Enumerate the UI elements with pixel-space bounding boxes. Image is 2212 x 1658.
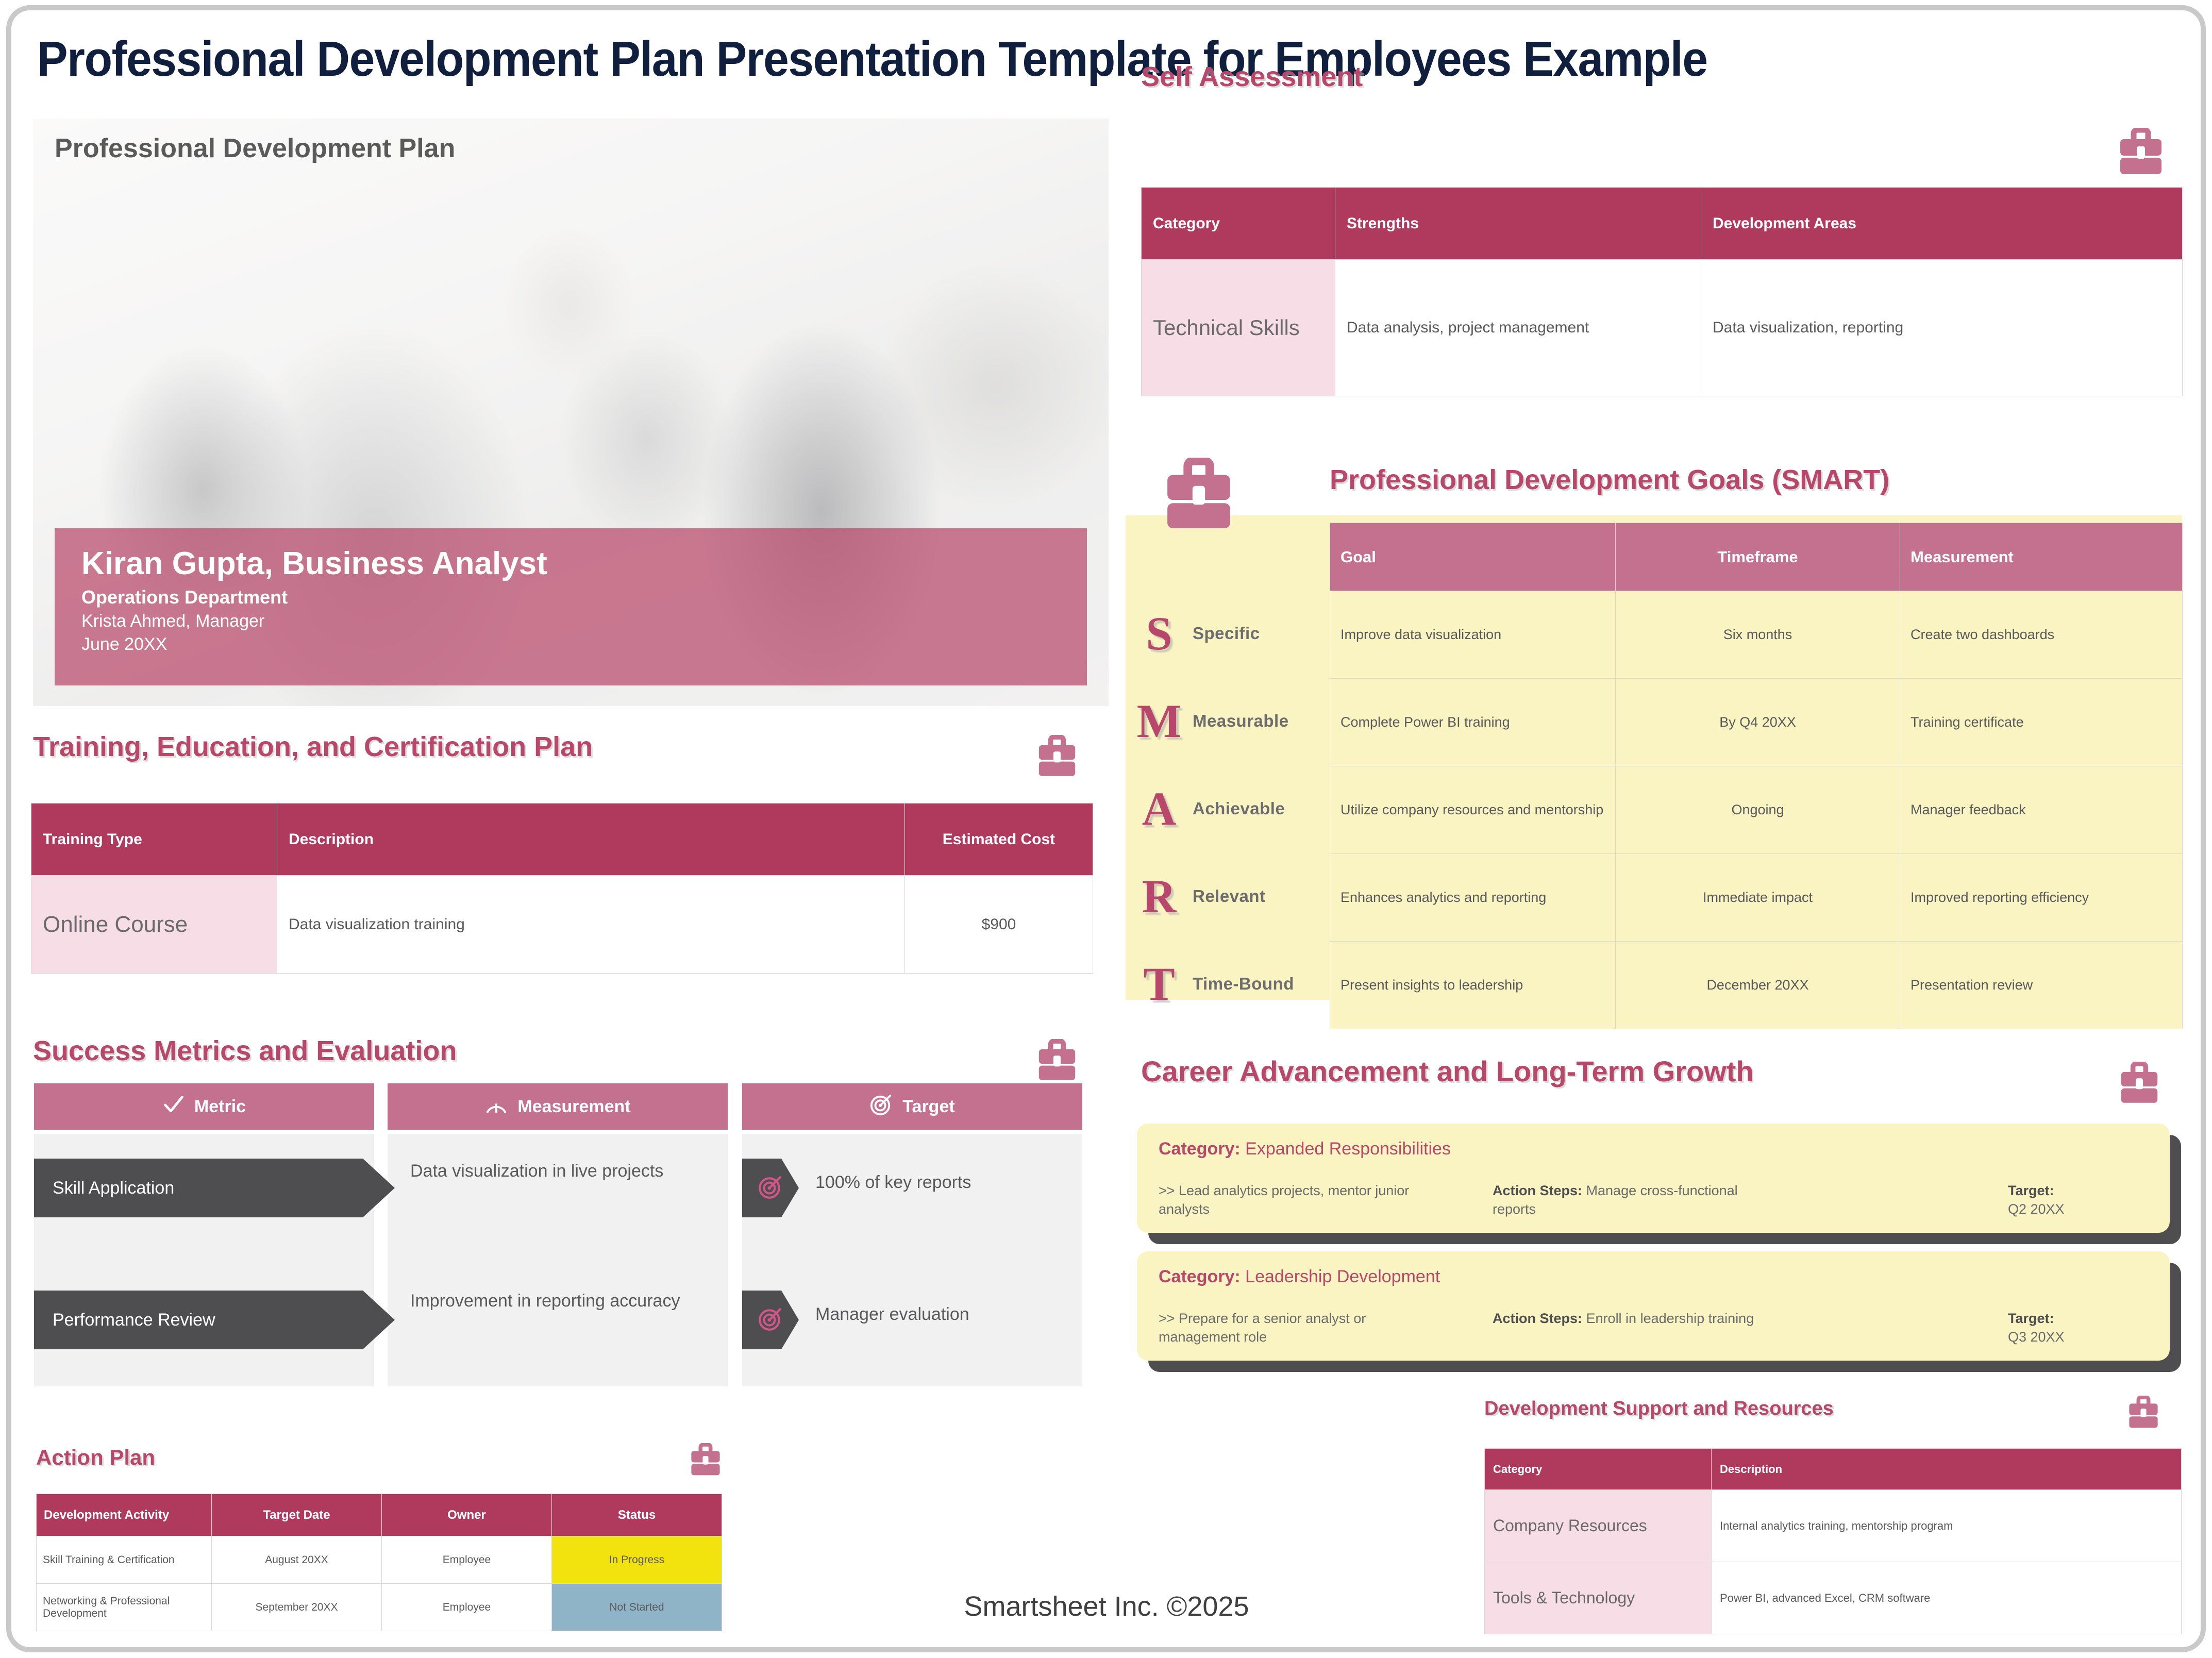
cell-description: Internal analytics training, mentorship … [1712, 1490, 2182, 1562]
table-row: Present insights to leadership December … [1330, 942, 2183, 1029]
column-header-target-date: Target Date [212, 1494, 382, 1536]
metrics-header-label: Measurement [517, 1097, 630, 1117]
cell-measurement: Presentation review [1900, 942, 2183, 1029]
career-card-category-1: Category: Expanded Responsibilities [1159, 1139, 1451, 1159]
table-row: Enhances analytics and reporting Immedia… [1330, 854, 2183, 942]
cell-training-type: Online Course [31, 876, 277, 974]
column-header-status: Status [552, 1494, 722, 1536]
smart-goals-title: Professional Development Goals (SMART) [1330, 464, 1889, 496]
cell-owner: Employee [382, 1536, 552, 1584]
briefcase-icon [2129, 1396, 2158, 1429]
career-card-1: Category: Expanded Responsibilities >> L… [1137, 1124, 2170, 1233]
briefcase-icon [1166, 458, 1232, 530]
metrics-header-metric[interactable]: Metric [34, 1083, 374, 1130]
career-card-detail-1: >> Lead analytics projects, mentor junio… [1159, 1181, 1447, 1219]
career-card-target-value: Q2 20XX [2008, 1201, 2065, 1217]
cell-estimated-cost: $900 [905, 876, 1093, 974]
hero-name: Kiran Gupta, Business Analyst [81, 547, 1087, 581]
dev-support-title: Development Support and Resources [1484, 1398, 1834, 1420]
success-metrics-header-row: Metric Measurement [11, 1083, 1094, 1130]
career-growth-title: Career Advancement and Long-Term Growth [1141, 1054, 1754, 1088]
target-text-row2: Manager evaluation [815, 1303, 1073, 1326]
smart-label: Relevant [1193, 886, 1266, 906]
target-icon [758, 1306, 783, 1334]
smart-letter: A [1126, 785, 1193, 832]
metric-label: Performance Review [53, 1310, 215, 1330]
cell-goal: Present insights to leadership [1330, 942, 1616, 1029]
hero-banner: Professional Development Plan Kiran Gupt… [33, 119, 1109, 706]
target-icon [869, 1093, 893, 1121]
smart-row-measurable: M Measurable [1126, 677, 1315, 765]
metrics-header-target[interactable]: Target [742, 1083, 1082, 1130]
slide-content: Professional Development Plan Presentati… [11, 9, 2202, 1649]
career-card-category-label: Category: [1159, 1267, 1241, 1286]
cell-timeframe: Immediate impact [1616, 854, 1900, 942]
career-card-category-label: Category: [1159, 1139, 1241, 1159]
briefcase-icon [691, 1443, 720, 1476]
table-row: Improve data visualization Six months Cr… [1330, 591, 2183, 679]
column-header-development-areas: Development Areas [1701, 188, 2183, 260]
cell-category: Technical Skills [1142, 260, 1335, 396]
status-badge: In Progress [552, 1536, 722, 1584]
cell-activity: Skill Training & Certification [37, 1536, 212, 1584]
career-card-action-value: Enroll in leadership training [1586, 1311, 1754, 1326]
career-card-detail-2: >> Prepare for a senior analyst or manag… [1159, 1309, 1447, 1347]
footer-watermark: Smartsheet Inc. ©2025 [11, 1590, 2202, 1622]
training-plan-title: Training, Education, and Certification P… [33, 731, 593, 763]
column-header-timeframe: Timeframe [1616, 523, 1900, 591]
metrics-header-measurement[interactable]: Measurement [388, 1083, 728, 1130]
metric-arrow-row1: Skill Application [34, 1159, 395, 1217]
career-card-action-2: Action Steps: Enroll in leadership train… [1493, 1309, 1781, 1328]
column-header-strengths: Strengths [1335, 188, 1701, 260]
cell-timeframe: Ongoing [1616, 766, 1900, 854]
table-row: Utilize company resources and mentorship… [1330, 766, 2183, 854]
check-icon [162, 1093, 185, 1120]
hero-department: Operations Department [81, 587, 1087, 608]
cell-goal: Enhances analytics and reporting [1330, 854, 1616, 942]
career-card-category-value: Expanded Responsibilities [1245, 1139, 1451, 1159]
briefcase-icon [1038, 1039, 1076, 1081]
hero-kicker: Professional Development Plan [55, 133, 455, 164]
career-card-category-2: Category: Leadership Development [1159, 1267, 1440, 1287]
column-header-training-type: Training Type [31, 803, 277, 876]
career-card-target-2: Target: Q3 20XX [2008, 1309, 2152, 1347]
smart-goals-table: Goal Timeframe Measurement Improve data … [1330, 523, 2183, 1029]
table-header-row: Training Type Description Estimated Cost [31, 803, 1093, 876]
gauge-icon [484, 1093, 508, 1120]
cell-timeframe: By Q4 20XX [1616, 679, 1900, 766]
career-card-action-label: Action Steps: [1493, 1311, 1582, 1326]
table-row: Company Resources Internal analytics tra… [1485, 1490, 2182, 1562]
cell-strengths: Data analysis, project management [1335, 260, 1701, 396]
metric-arrow-row2: Performance Review [34, 1291, 395, 1349]
smart-row-time-bound: T Time-Bound [1126, 940, 1315, 1028]
target-text-row1: 100% of key reports [815, 1171, 1073, 1194]
smart-label: Achievable [1193, 799, 1285, 818]
column-header-goal: Goal [1330, 523, 1616, 591]
table-row: Online Course Data visualization trainin… [31, 876, 1093, 974]
table-header-row: Category Description [1485, 1449, 2182, 1490]
measurement-text-row2: Improvement in reporting accuracy [410, 1289, 699, 1312]
career-card-target-label: Target: [2008, 1311, 2054, 1326]
briefcase-icon [2119, 128, 2163, 175]
metric-label: Skill Application [53, 1178, 174, 1198]
career-card-category-value: Leadership Development [1245, 1267, 1440, 1286]
career-card-2: Category: Leadership Development >> Prep… [1137, 1251, 2170, 1361]
cell-category: Company Resources [1485, 1490, 1712, 1562]
cell-goal: Complete Power BI training [1330, 679, 1616, 766]
smart-row-relevant: R Relevant [1126, 852, 1315, 940]
target-icon [758, 1174, 783, 1202]
cell-description: Data visualization training [277, 876, 905, 974]
cell-measurement: Manager feedback [1900, 766, 2183, 854]
hero-manager: Krista Ahmed, Manager [81, 611, 1087, 631]
metrics-header-label: Metric [194, 1097, 246, 1117]
smart-letter: M [1126, 697, 1193, 745]
smart-letter: R [1126, 873, 1193, 920]
smart-letter: S [1126, 610, 1193, 657]
hero-caption-band: Kiran Gupta, Business Analyst Operations… [55, 528, 1087, 685]
table-header-row: Category Strengths Development Areas [1142, 188, 2183, 260]
self-assessment-table: Category Strengths Development Areas Tec… [1141, 187, 2183, 396]
smart-label: Time-Bound [1193, 974, 1294, 994]
career-card-target-value: Q3 20XX [2008, 1329, 2065, 1345]
career-card-action-1: Action Steps: Manage cross-functional re… [1493, 1181, 1781, 1219]
career-card-action-label: Action Steps: [1493, 1183, 1582, 1198]
column-header-development-activity: Development Activity [37, 1494, 212, 1536]
slide-page: Professional Development Plan Presentati… [0, 0, 2212, 1658]
training-plan-table: Training Type Description Estimated Cost… [31, 803, 1093, 974]
briefcase-icon [1038, 735, 1076, 777]
smart-letter: T [1126, 960, 1193, 1008]
smart-row-achievable: A Achievable [1126, 765, 1315, 852]
table-row: Complete Power BI training By Q4 20XX Tr… [1330, 679, 2183, 766]
career-card-target-label: Target: [2008, 1183, 2054, 1198]
cell-goal: Utilize company resources and mentorship [1330, 766, 1616, 854]
cell-goal: Improve data visualization [1330, 591, 1616, 679]
column-header-category: Category [1142, 188, 1335, 260]
success-metrics-title: Success Metrics and Evaluation [33, 1035, 457, 1067]
smart-label: Measurable [1193, 711, 1289, 731]
measurement-text-row1: Data visualization in live projects [410, 1160, 699, 1182]
smart-label: Specific [1193, 624, 1260, 643]
hero-date: June 20XX [81, 634, 1087, 655]
column-header-description: Description [1712, 1449, 2182, 1490]
table-row: Skill Training & Certification August 20… [37, 1536, 722, 1584]
table-row: Technical Skills Data analysis, project … [1142, 260, 2183, 396]
self-assessment-title: Self Assessment [1141, 61, 1363, 93]
cell-timeframe: December 20XX [1616, 942, 1900, 1029]
column-header-owner: Owner [382, 1494, 552, 1536]
cell-measurement: Training certificate [1900, 679, 2183, 766]
page-title: Professional Development Plan Presentati… [37, 31, 2012, 88]
smart-row-specific: S Specific [1126, 590, 1315, 677]
briefcase-icon [2120, 1062, 2158, 1104]
cell-target-date: August 20XX [212, 1536, 382, 1584]
success-metrics-body: Skill Application Data visualization in … [11, 1134, 1094, 1386]
cell-timeframe: Six months [1616, 591, 1900, 679]
metrics-header-label: Target [902, 1097, 954, 1117]
cell-measurement: Create two dashboards [1900, 591, 2183, 679]
column-header-category: Category [1485, 1449, 1712, 1490]
action-plan-title: Action Plan [36, 1445, 155, 1470]
table-header-row: Development Activity Target Date Owner S… [37, 1494, 722, 1536]
table-header-row: Goal Timeframe Measurement [1330, 523, 2183, 591]
cell-measurement: Improved reporting efficiency [1900, 854, 2183, 942]
column-header-description: Description [277, 803, 905, 876]
career-card-target-1: Target: Q2 20XX [2008, 1181, 2152, 1219]
column-header-estimated-cost: Estimated Cost [905, 803, 1093, 876]
column-header-measurement: Measurement [1900, 523, 2183, 591]
cell-development-areas: Data visualization, reporting [1701, 260, 2183, 396]
